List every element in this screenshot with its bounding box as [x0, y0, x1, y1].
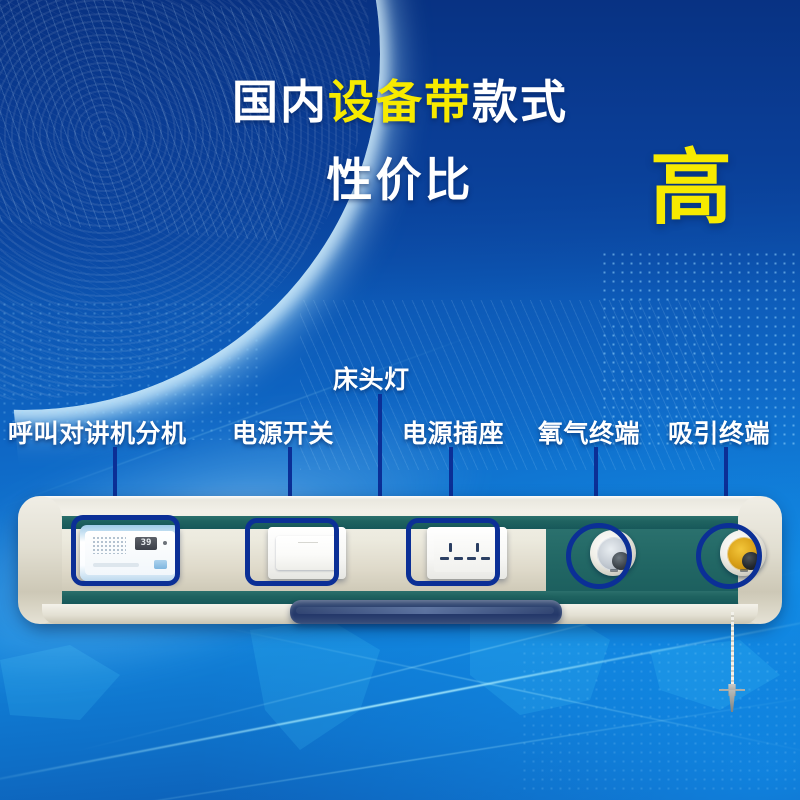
- bed-lamp-gloss: [296, 607, 554, 614]
- callout-box-intercom: [71, 515, 180, 586]
- headline-highlight: 设备带: [328, 75, 472, 129]
- headline-part-2: 款式: [472, 75, 568, 129]
- callout-label-suction-terminal: 吸引终端: [668, 414, 770, 450]
- callout-box-power-socket: [406, 518, 500, 586]
- pull-cord[interactable]: [731, 612, 734, 690]
- callout-label-intercom: 呼叫对讲机分机: [8, 414, 187, 450]
- headline-part-1: 国内: [232, 75, 328, 129]
- callout-label-bed-lamp: 床头灯: [333, 360, 410, 396]
- callout-box-power-switch: [245, 518, 339, 586]
- callout-circle-suction: [696, 523, 762, 589]
- callout-circle-oxygen: [566, 523, 632, 589]
- headline-emphasis-gao: 高: [650, 148, 732, 230]
- product-banner: 国内设备带款式 性价比 高 呼叫对讲机分机 电源开关 床头灯 电源插座 氧气终端…: [0, 0, 800, 800]
- callout-label-power-switch: 电源开关: [232, 414, 334, 450]
- callout-label-power-socket: 电源插座: [402, 414, 504, 450]
- headline-line-1: 国内设备带款式: [0, 78, 800, 126]
- callout-label-oxygen-terminal: 氧气终端: [538, 414, 640, 450]
